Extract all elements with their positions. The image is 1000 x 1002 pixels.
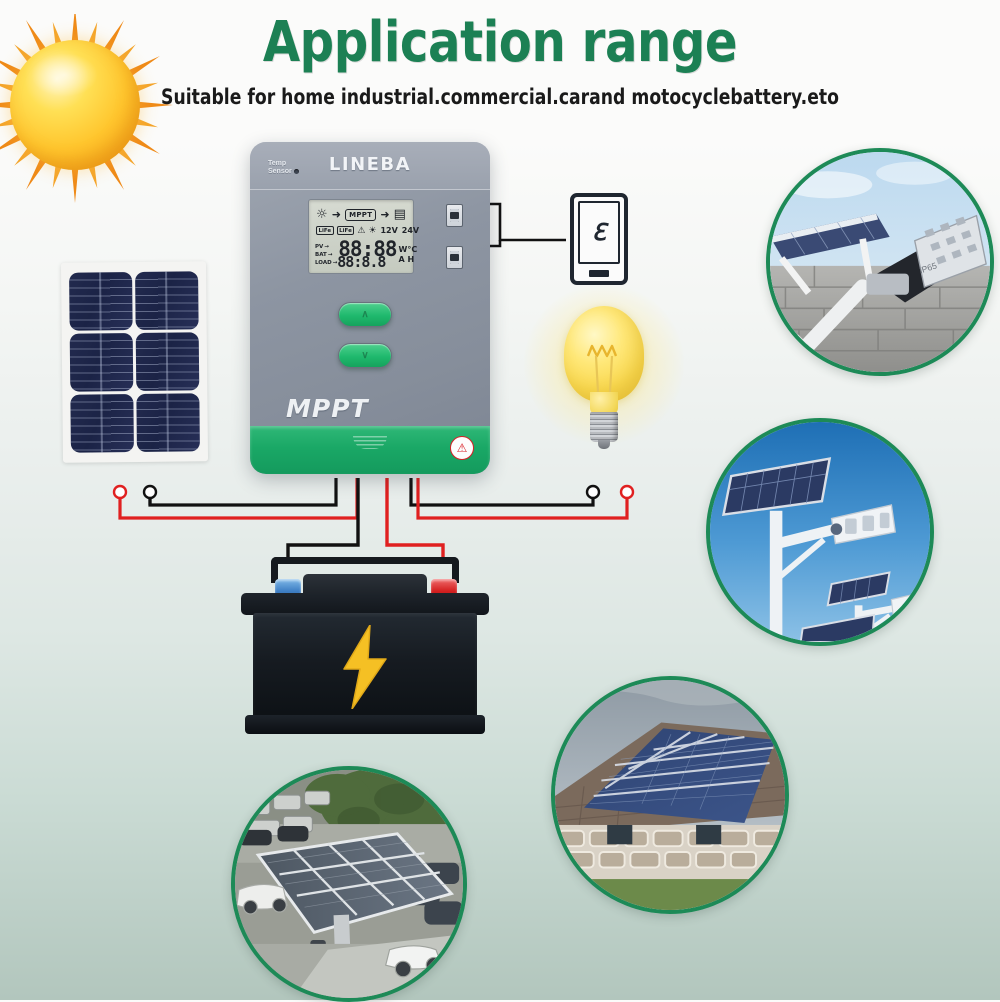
lcd-channel-bat: BAT →	[315, 252, 337, 259]
warning-sticker: ⚠	[450, 436, 474, 460]
wire-battery-positive	[387, 478, 443, 560]
lcd-mppt-tag: MPPT	[345, 209, 376, 221]
terminal-node-pv-negative	[144, 486, 156, 498]
lcd-units-top: W°C	[399, 245, 418, 255]
lcd-lithium-chip: LiFe	[316, 226, 334, 235]
solar-charge-controller[interactable]: LINEBA Temp Sensor ☼ ➜ MPPT ➜ ▤ LiFe LiF…	[250, 142, 490, 474]
lcd-channel-pv: PV →	[315, 244, 337, 251]
page-title: Application range	[70, 14, 930, 73]
wire-load-positive	[418, 478, 627, 518]
lcd-voltage-24v: 24V	[402, 226, 419, 235]
lcd-channel-labels: PV → BAT → LOAD →	[315, 244, 337, 267]
photo-solar-carport	[231, 766, 467, 1002]
photo-streetlight-pole	[706, 418, 934, 646]
light-bulb	[550, 300, 658, 470]
battery-lid	[241, 593, 489, 615]
photo-roof-array	[551, 676, 789, 914]
temp-sensor-label: Temp Sensor	[268, 160, 292, 176]
lcd-arrow-icon: ➜	[380, 209, 389, 220]
chevron-down-icon: ∨	[339, 344, 391, 367]
down-button[interactable]: ∨	[338, 343, 392, 368]
solar-cell	[70, 333, 134, 392]
solar-cell	[136, 393, 200, 452]
lcd-readout-row: PV → BAT → LOAD → 88:88 88:8.8	[314, 237, 408, 273]
usb-port-2[interactable]	[446, 246, 463, 269]
sun-core	[10, 40, 140, 170]
controller-base: ⚠	[250, 426, 490, 474]
lcd-channel-bat-label: BAT	[315, 252, 327, 259]
temp-sensor-label-line2: Sensor	[268, 168, 292, 176]
vent-grille	[353, 436, 387, 449]
bulb-base-tip	[598, 440, 610, 449]
wire-pv-positive	[120, 478, 357, 518]
wire-battery-negative	[288, 478, 358, 560]
lightning-bolt-icon	[338, 625, 392, 709]
terminal-node-load-negative	[587, 486, 599, 498]
sun-icon	[0, 14, 176, 204]
lcd-channel-load-label: LOAD	[315, 260, 332, 267]
photo-streetlight-wall: IP65	[766, 148, 994, 376]
lcd-digit-stack: 88:88 88:8.8	[337, 240, 396, 269]
phone-screen: ℇ	[578, 201, 620, 264]
lcd-channel-arrow-icon: →	[328, 252, 333, 259]
solar-cell	[135, 271, 199, 330]
lcd-sun-icon: ☼	[316, 208, 328, 221]
lcd-channel-arrow-icon: →	[324, 244, 329, 251]
lcd-warning-icon: ⚠	[357, 226, 365, 236]
page-subtitle: Suitable for home industrial.commercial.…	[90, 85, 910, 109]
lcd-battery-icon: ▤	[394, 208, 406, 221]
bulb-screw-base	[590, 412, 618, 442]
infographic-canvas: Application range Suitable for home indu…	[0, 0, 1000, 1000]
phone-home-button	[589, 270, 609, 277]
wire-pv-negative-run	[150, 478, 336, 505]
lcd-display: ☼ ➜ MPPT ➜ ▤ LiFe LiFe ⚠ ☀ 12V 24V PV →	[308, 199, 414, 274]
lcd-voltage-12v: 12V	[380, 226, 397, 235]
up-button[interactable]: ∧	[338, 302, 392, 327]
model-name: MPPT	[286, 394, 369, 423]
lcd-units: W°C A H	[399, 245, 418, 265]
solar-cell	[69, 272, 133, 331]
solar-cell	[136, 332, 200, 391]
terminal-node-pv-positive	[114, 486, 126, 498]
car-battery	[235, 557, 495, 737]
warning-triangle-icon: ⚠	[457, 442, 468, 454]
temp-sensor-label-line1: Temp	[268, 160, 292, 168]
solar-panel	[61, 261, 208, 463]
temp-sensor-led	[294, 169, 299, 174]
solar-cell	[70, 394, 134, 453]
lcd-lithium-chip: LiFe	[337, 226, 355, 235]
lcd-status-row: LiFe LiFe ⚠ ☀ 12V 24V	[314, 224, 408, 237]
chevron-up-icon: ∧	[339, 303, 391, 326]
usb-port-1[interactable]	[446, 204, 463, 227]
mobile-device: ℇ	[570, 193, 628, 285]
battery-foot	[245, 715, 485, 734]
lcd-arrow-icon: ➜	[332, 209, 341, 220]
bulb-filament-icon	[582, 336, 626, 396]
terminal-node-load-positive	[621, 486, 633, 498]
lcd-lamp-icon: ☀	[368, 226, 376, 236]
lcd-flow-row: ☼ ➜ MPPT ➜ ▤	[314, 205, 408, 224]
lcd-units-bottom: A H	[399, 255, 418, 265]
wire-load-negative	[411, 478, 593, 505]
lcd-channel-load: LOAD →	[315, 260, 337, 267]
lcd-channel-pv-label: PV	[315, 244, 323, 251]
